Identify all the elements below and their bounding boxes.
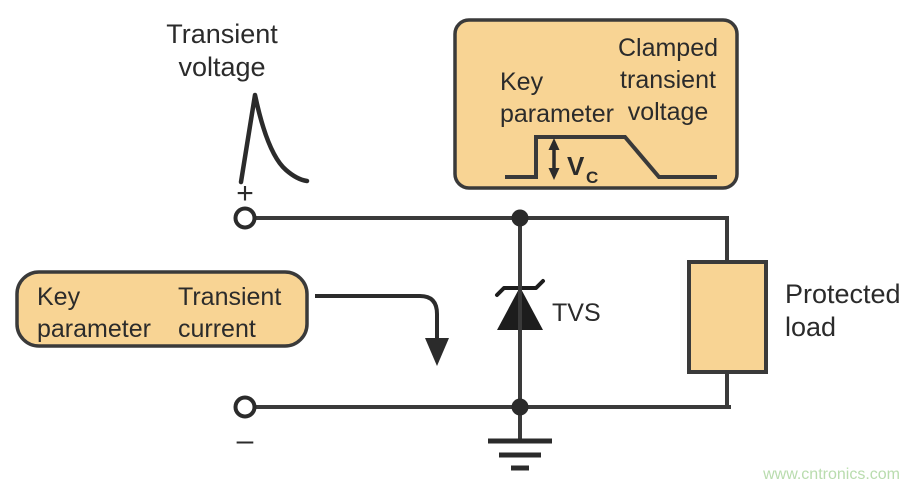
transient-voltage-label-line2: voltage [178,52,265,82]
clamped-title-line3: voltage [628,98,709,126]
junction-dot-top [512,210,529,227]
positive-terminal-node [236,209,255,228]
pointer-arrow-head [425,338,449,366]
transient-spike-curve [241,95,307,182]
protected-load-label-line2: load [785,312,836,342]
transient-current-callout: Key parameter Transient current [17,272,307,346]
circuit-diagram-canvas: + – Transient voltage Key parameter Clam… [0,0,913,494]
negative-sign-label: – [237,424,254,457]
ground-symbol [488,441,552,468]
negative-terminal-node [236,398,255,417]
tvs-diode-symbol [497,270,543,345]
protected-load-label-line1: Protected [785,279,901,309]
clamped-title-line2: transient [620,66,716,94]
current-key-label-line2: parameter [37,315,151,343]
clamped-key-label-line2: parameter [500,100,614,128]
vc-label: V [567,151,585,181]
current-value-line1: Transient [178,283,281,311]
pointer-arrow-shaft [315,296,437,344]
current-pointer-arrow [315,296,449,366]
junction-dot-bottom [512,399,529,416]
clamped-key-label-line1: Key [500,68,544,96]
circuit-diagram: + – Transient voltage Key parameter Clam… [0,0,913,494]
terminal-negative: – [236,398,255,458]
protected-load-rect [689,262,766,372]
transient-voltage-label-line1: Transient [166,19,278,49]
circuit-wiring [256,218,729,441]
clamped-title-line1: Clamped [618,34,718,62]
clamped-voltage-callout: Key parameter Clamped transient voltage … [455,20,737,188]
tvs-label: TVS [552,299,601,327]
current-key-label-line1: Key [37,283,81,311]
current-value-line2: current [178,315,256,343]
vc-subscript-label: C [586,168,598,187]
protected-load-block [689,262,766,372]
watermark-label: www.cntronics.com [762,466,900,483]
transient-voltage-waveform [241,95,307,182]
terminal-positive: + [236,177,255,228]
